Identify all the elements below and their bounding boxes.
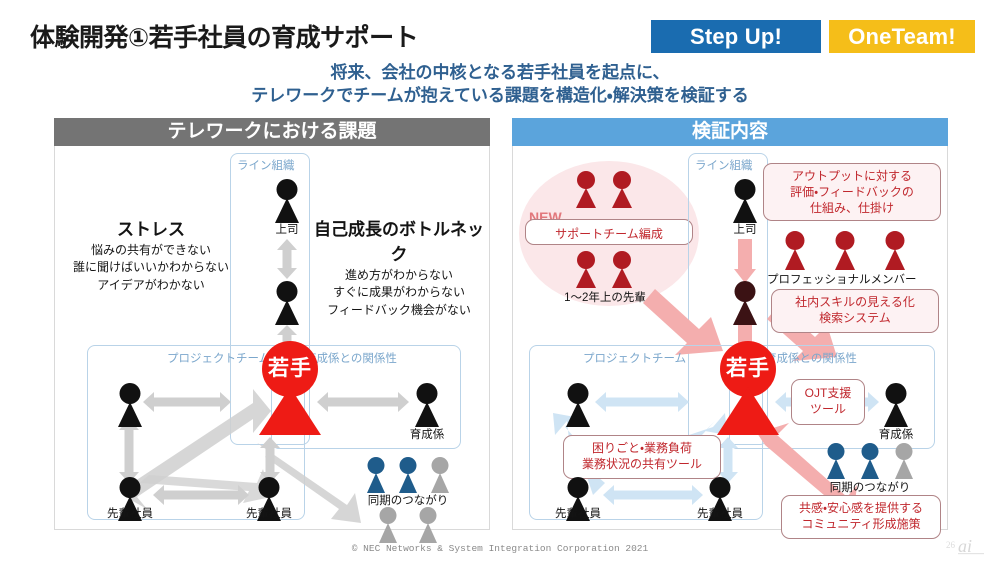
subtitle: 将来、会社の中核となる若手社員を起点に、 テレワークでチームが抱えている課題を構…	[0, 62, 1000, 108]
arrow-senior1-senior2-left	[153, 484, 249, 506]
panel-left-body: ライン組織 上司 ストレス 悩みの共有がで	[55, 147, 489, 530]
skill-search-callout: 社内スキルの見える化 検索システム	[771, 289, 939, 333]
person-peer-1-left	[363, 457, 389, 489]
person-peer-3-left	[427, 457, 453, 489]
person-peer-2-right	[857, 443, 883, 475]
person-senior-4-label-right: 先輩社員	[697, 505, 743, 521]
person-senior-1-left	[113, 383, 147, 423]
badge-step-up: Step Up!	[651, 20, 821, 53]
arrow-to-support-team	[637, 277, 723, 355]
person-mentor-right	[879, 383, 913, 423]
person-senior-4-label-left: 先輩社員	[246, 505, 292, 521]
person-peer-1-right	[823, 443, 849, 475]
ojt-callout-line-1: OJT支援	[798, 385, 858, 401]
person-mentor-label-right: 育成係	[879, 426, 914, 442]
arrow-senior1-senior2-right	[603, 484, 703, 506]
person-senior-1-right	[561, 383, 595, 423]
peer-group-label-right: 同期のつながり	[830, 479, 911, 495]
copyright-notice: © NEC Networks & System Integration Corp…	[0, 543, 1000, 554]
line-org-label-right: ライン組織	[695, 157, 753, 173]
person-mentor-label-left: 育成係	[410, 426, 445, 442]
svg-text:26: 26	[946, 540, 956, 550]
community-callout: 共感・安心感を提供する コミュニティ形成施策	[781, 495, 941, 539]
young-employee-right: 若手	[717, 341, 779, 437]
bottleneck-block: 自己成長のボトルネック 進め方がわからない すぐに成果がわからない フィードバッ…	[311, 215, 487, 319]
badge-one-team: OneTeam!	[829, 20, 975, 53]
arrow-boss-young-right	[734, 239, 756, 283]
feedback-callout-line-3: 仕組み、仕掛け	[770, 200, 934, 216]
person-peer-5-left	[415, 507, 441, 539]
stress-line-1: 悩みの共有ができない	[67, 242, 235, 259]
line-org-label-left: ライン組織	[237, 157, 295, 173]
panel-right-body: NEW サポートチーム編成 1〜2年上の先輩	[513, 147, 947, 530]
arrow-senior-col-left	[118, 419, 140, 483]
feedback-callout: アウトプットに対する 評価・フィードバックの 仕組み、仕掛け	[763, 163, 941, 221]
person-support-4	[609, 251, 635, 284]
bottleneck-line-3: フィードバック機会がない	[311, 302, 487, 319]
project-team-label-right: プロジェクトチーム	[583, 350, 686, 366]
person-boss-label-right: 上司	[734, 221, 757, 237]
panel-right-heading: 検証内容	[512, 118, 948, 146]
peer-group-label-left: 同期のつながり	[368, 492, 449, 508]
person-professional-1	[781, 231, 809, 266]
ojt-callout-line-2: ツール	[798, 401, 858, 417]
skill-search-line-1: 社内スキルの見える化	[778, 294, 932, 310]
bottleneck-line-2: すぐに成果がわからない	[311, 284, 487, 301]
person-peer-2-left	[395, 457, 421, 489]
person-peer-3-right	[891, 443, 917, 475]
panel-verification-content: 検証内容 NEW サポートチーム編成	[512, 118, 948, 530]
stress-block: ストレス 悩みの共有ができない 誰に聞けばいいかわからない アイデアがわかない	[67, 215, 235, 294]
community-line-1: 共感・安心感を提供する	[788, 500, 934, 516]
person-mentor-left	[410, 383, 444, 423]
person-support-2	[609, 171, 635, 204]
arrow-boss-mid-left	[276, 239, 298, 279]
person-senior-2-label-right: 先輩社員	[555, 505, 601, 521]
share-tool-line-1: 困りごと・業務負荷	[570, 440, 714, 456]
person-boss-label-left: 上司	[276, 221, 299, 237]
person-boss-right	[728, 179, 762, 219]
arrow-senior1-young-right	[595, 391, 689, 413]
stress-line-2: 誰に聞けばいいかわからない	[67, 259, 235, 276]
subtitle-line-1: 将来、会社の中核となる若手社員を起点に、	[0, 62, 1000, 85]
ojt-callout: OJT支援 ツール	[791, 379, 865, 425]
arrow-senior1-young-left	[143, 391, 231, 413]
stress-title: ストレス	[67, 215, 235, 240]
stress-line-3: アイデアがわかない	[67, 277, 235, 294]
person-boss-left	[270, 179, 304, 219]
feedback-callout-line-2: 評価・フィードバックの	[770, 184, 934, 200]
professional-members-label: プロフェッショナルメンバー	[767, 271, 917, 287]
share-tool-line-2: 業務状況の共有ツール	[570, 456, 714, 472]
panel-left-heading: テレワークにおける課題	[54, 118, 490, 146]
community-line-2: コミュニティ形成施策	[788, 516, 934, 532]
young-employee-left: 若手	[259, 341, 321, 437]
feedback-callout-line-1: アウトプットに対する	[770, 168, 934, 184]
bottleneck-line-1: 進め方がわからない	[311, 267, 487, 284]
slide-root: 体験開発①若手社員の育成サポート Step Up! OneTeam! 将来、会社…	[0, 0, 1000, 563]
skill-search-line-2: 検索システム	[778, 310, 932, 326]
senior-1-2-years-label: 1〜2年上の先輩	[564, 289, 646, 305]
support-team-callout: サポートチーム編成	[525, 219, 693, 245]
person-peer-4-left	[375, 507, 401, 539]
person-support-3	[573, 251, 599, 284]
person-support-1	[573, 171, 599, 204]
person-mid-left	[270, 281, 304, 321]
young-employee-body-left	[259, 387, 321, 435]
person-senior-2-label-left: 先輩社員	[107, 505, 153, 521]
arrow-young-mentor-left	[317, 391, 409, 413]
bottleneck-title: 自己成長のボトルネック	[311, 215, 487, 265]
person-professional-3	[881, 231, 909, 266]
watermark-logo: 26 ai	[942, 528, 988, 558]
page-title: 体験開発①若手社員の育成サポート	[30, 18, 418, 54]
subtitle-line-2: テレワークでチームが抱えている課題を構造化・解決策を検証する	[0, 85, 1000, 108]
share-tool-callout: 困りごと・業務負荷 業務状況の共有ツール	[563, 435, 721, 479]
person-professional-2	[831, 231, 859, 266]
panel-telework-issues: テレワークにおける課題 ライン組織 上司	[54, 118, 490, 530]
young-employee-body-right	[717, 387, 779, 435]
